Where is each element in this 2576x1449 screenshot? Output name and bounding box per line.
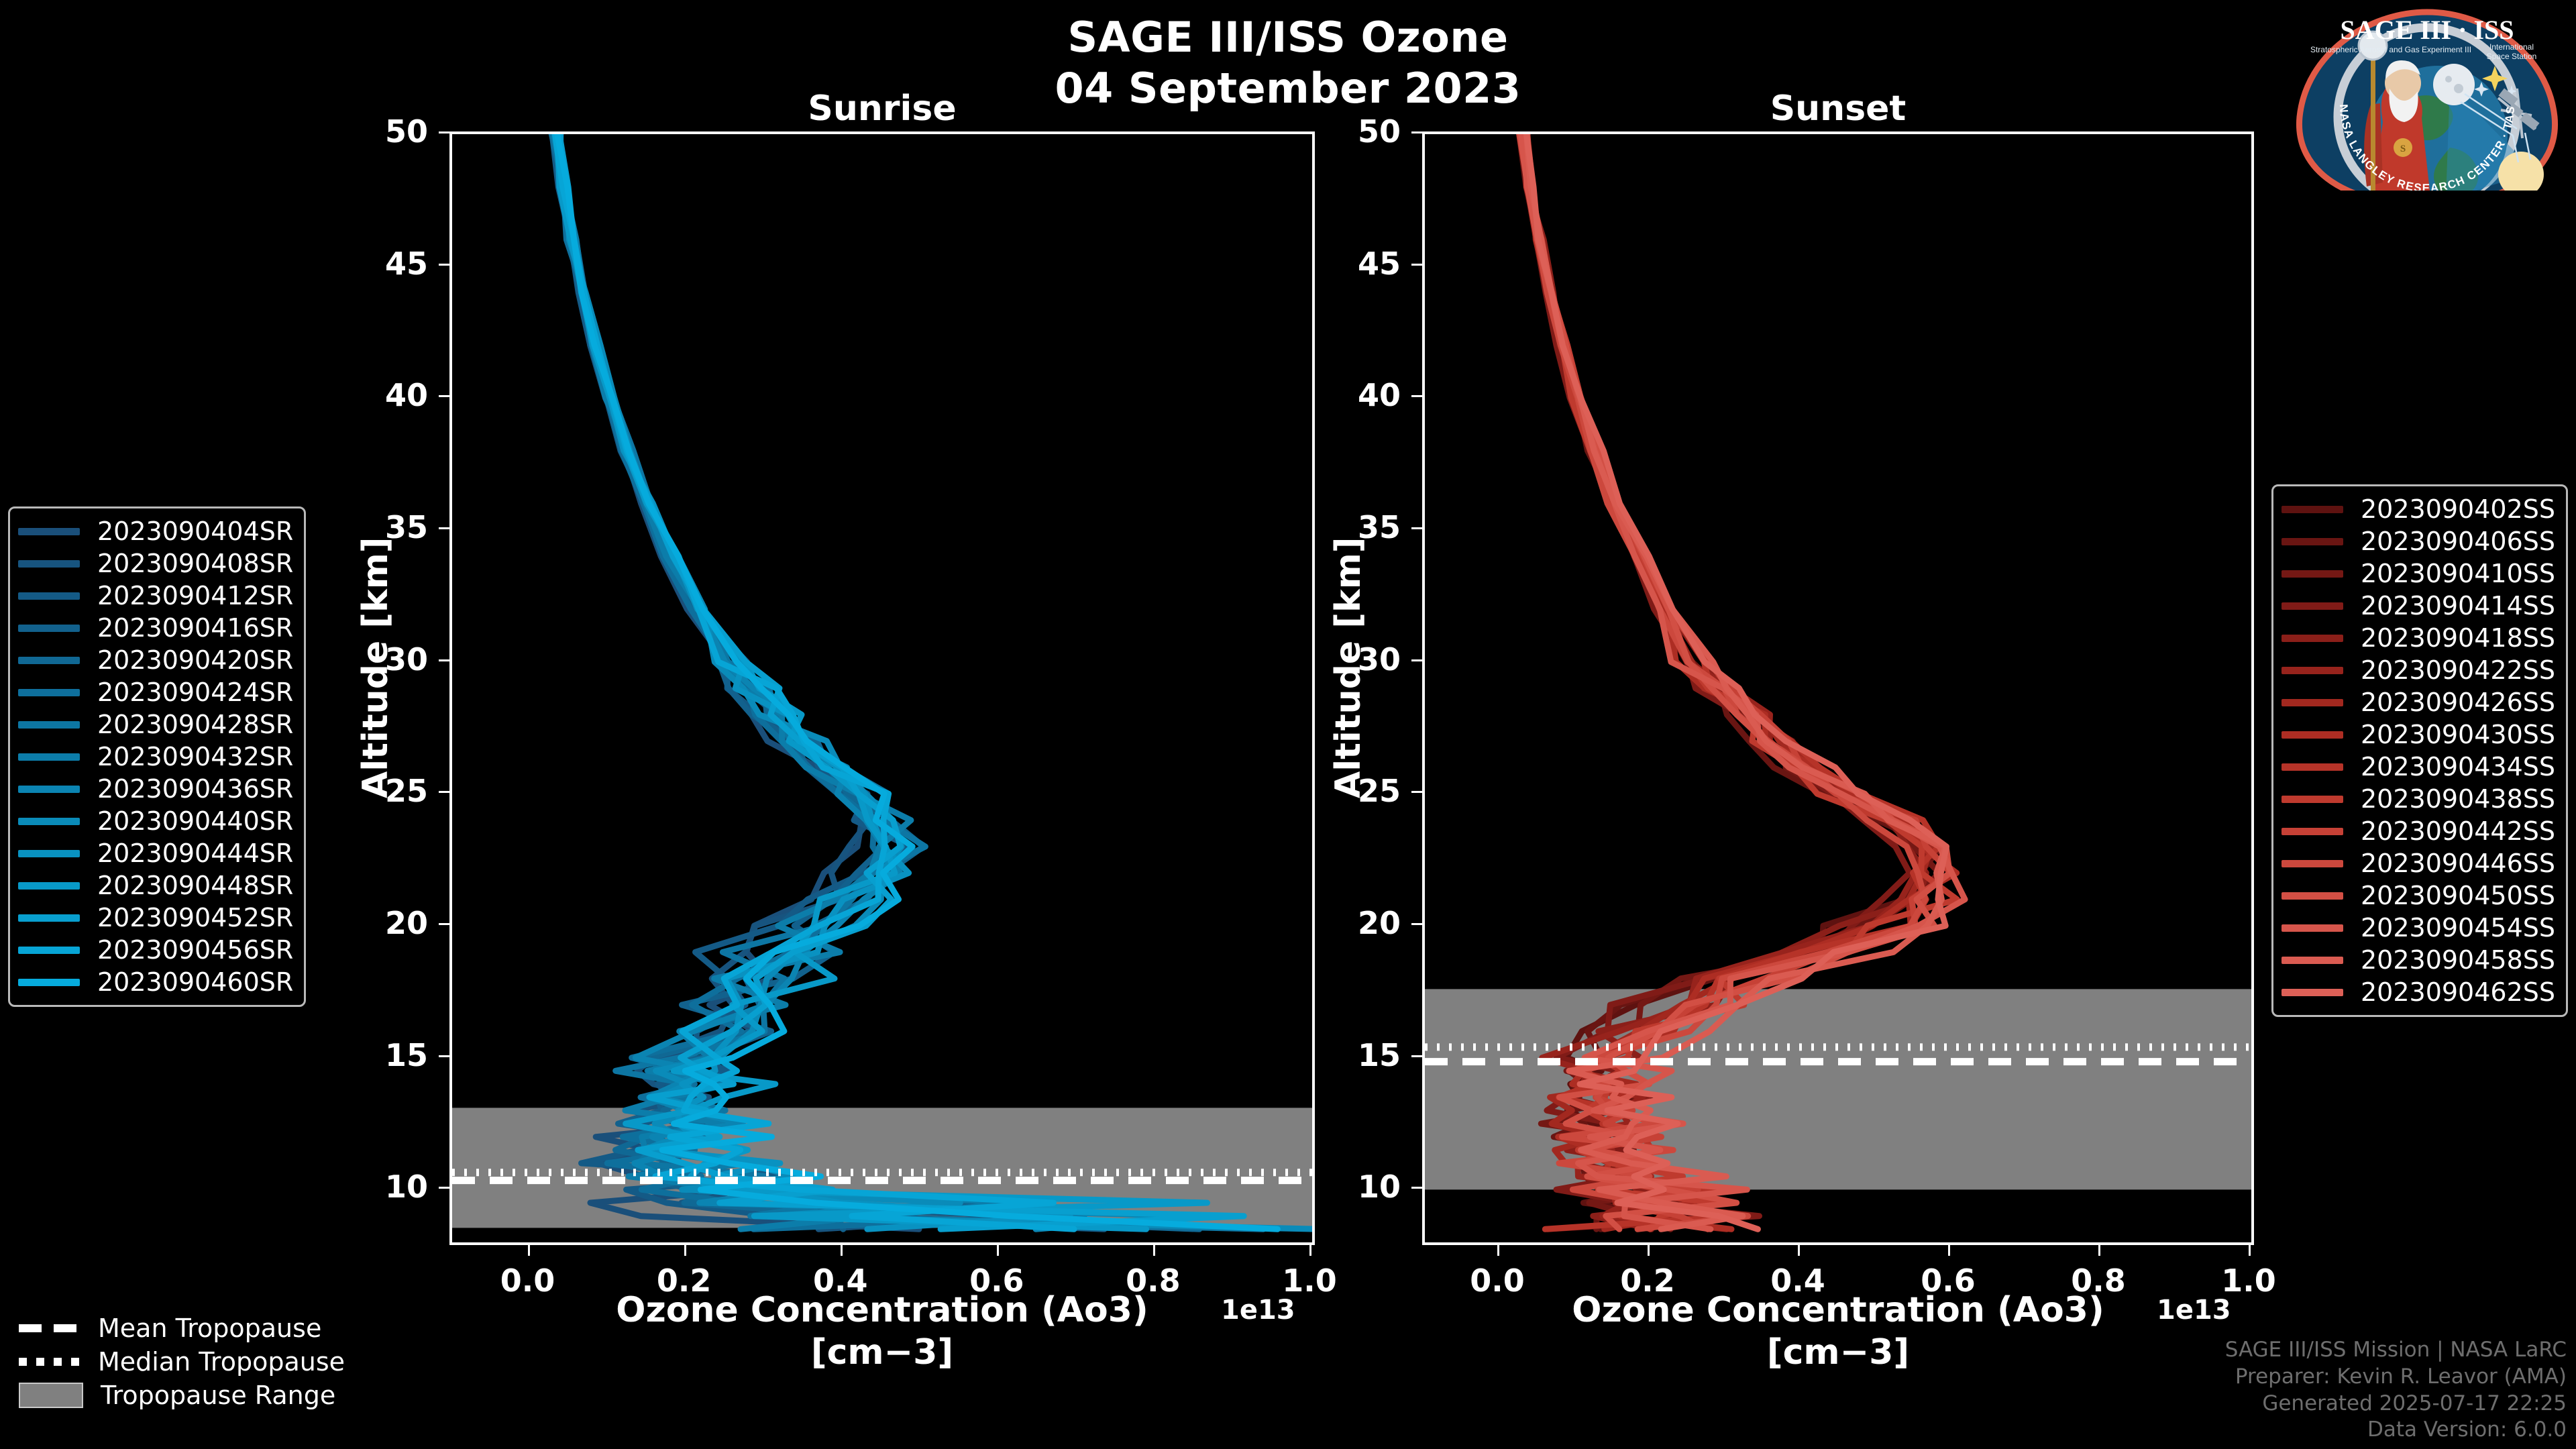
- svg-text:International: International: [2489, 42, 2534, 52]
- sunrise-y-axis-title: Altitude [km]: [356, 537, 396, 798]
- legend-item[interactable]: 2023090420SR: [18, 644, 293, 676]
- y-tick-label: 45: [1358, 246, 1401, 282]
- legend-item[interactable]: 2023090412SR: [18, 580, 293, 612]
- footer-line-preparer: Preparer: Kevin R. Leavor (AMA): [2225, 1364, 2567, 1391]
- legend-color-swatch: [2282, 635, 2343, 642]
- legend-color-swatch: [18, 786, 80, 793]
- sunrise-profile-lines: [452, 134, 1312, 1242]
- legend-item-label: 2023090438SS: [2361, 784, 2555, 814]
- sunset-plot-area[interactable]: [1422, 131, 2254, 1245]
- legend-item[interactable]: 2023090452SR: [18, 902, 293, 934]
- legend-item-label: 2023090454SS: [2361, 913, 2555, 943]
- sunrise-x-exponent: 1e13: [1221, 1295, 1295, 1326]
- legend-item-label: 2023090422SS: [2361, 655, 2555, 685]
- legend-item-label: 2023090460SR: [97, 967, 293, 997]
- y-tick: [1411, 1055, 1422, 1057]
- y-tick-label: 20: [385, 905, 428, 941]
- y-tick-label: 50: [385, 113, 428, 150]
- legend-color-swatch: [18, 721, 80, 729]
- y-tick-label: 15: [385, 1037, 428, 1073]
- legend-item-label: 2023090404SR: [97, 517, 293, 546]
- legend-item[interactable]: 2023090428SR: [18, 708, 293, 741]
- legend-color-swatch: [2282, 892, 2343, 900]
- y-tick: [1411, 923, 1422, 925]
- legend-color-swatch: [2282, 506, 2343, 513]
- sunrise-x-axis-title: Ozone Concentration (Ao3) [cm−3]: [449, 1289, 1315, 1375]
- mean-tropopause-dash-icon: [19, 1324, 80, 1332]
- legend-color-swatch: [18, 850, 80, 857]
- y-tick: [1411, 395, 1422, 397]
- legend-color-swatch: [2282, 731, 2343, 739]
- legend-item-label: 2023090430SS: [2361, 720, 2555, 749]
- logo-title: SAGE III · ISS: [2340, 15, 2514, 45]
- legend-item[interactable]: 2023090406SS: [2282, 525, 2555, 557]
- y-tick: [1411, 264, 1422, 266]
- sunset-x-exponent: 1e13: [2157, 1295, 2231, 1326]
- legend-item[interactable]: 2023090440SR: [18, 805, 293, 837]
- y-tick: [439, 131, 449, 133]
- sunrise-legend[interactable]: 2023090404SR2023090408SR2023090412SR2023…: [8, 506, 306, 1007]
- footer-attribution: SAGE III/ISS Mission | NASA LaRC Prepare…: [2225, 1337, 2567, 1444]
- legend-item[interactable]: 2023090416SR: [18, 612, 293, 644]
- ozone-profile-line: [553, 134, 1022, 1229]
- legend-item[interactable]: 2023090402SS: [2282, 493, 2555, 525]
- legend-item-label: 2023090450SS: [2361, 881, 2555, 910]
- legend-item[interactable]: 2023090432SR: [18, 741, 293, 773]
- x-tick: [1648, 1245, 1650, 1256]
- svg-text:Space Station: Space Station: [2487, 52, 2537, 61]
- legend-item-label: 2023090452SR: [97, 903, 293, 932]
- legend-color-swatch: [18, 882, 80, 890]
- legend-item-label: 2023090426SS: [2361, 688, 2555, 717]
- legend-color-swatch: [18, 689, 80, 696]
- legend-item-label: 2023090410SS: [2361, 559, 2555, 588]
- footer-line-mission: SAGE III/ISS Mission | NASA LaRC: [2225, 1337, 2567, 1364]
- legend-item[interactable]: 2023090460SR: [18, 966, 293, 998]
- legend-color-swatch: [2282, 957, 2343, 964]
- legend-item-label: 2023090458SS: [2361, 945, 2555, 975]
- legend-color-swatch: [18, 560, 80, 568]
- legend-color-swatch: [2282, 860, 2343, 867]
- tropopause-legend-label: Mean Tropopause: [98, 1313, 321, 1343]
- legend-item[interactable]: 2023090422SS: [2282, 654, 2555, 686]
- y-tick: [439, 527, 449, 529]
- legend-item-label: 2023090442SS: [2361, 816, 2555, 846]
- x-tick: [2098, 1245, 2100, 1256]
- legend-item[interactable]: 2023090446SS: [2282, 847, 2555, 879]
- y-tick-label: 50: [1358, 113, 1401, 150]
- legend-item[interactable]: 2023090408SR: [18, 547, 293, 580]
- legend-item[interactable]: 2023090442SS: [2282, 815, 2555, 847]
- subplot-title-sunrise: Sunrise: [449, 89, 1315, 129]
- x-tick: [684, 1245, 686, 1256]
- legend-item-label: 2023090436SR: [97, 774, 293, 804]
- y-tick: [1411, 659, 1422, 661]
- y-tick: [1411, 1187, 1422, 1189]
- title-line-1: SAGE III/ISS Ozone: [0, 12, 2576, 63]
- x-tick: [841, 1245, 843, 1256]
- legend-color-swatch: [2282, 989, 2343, 996]
- sunset-y-axis-title: Altitude [km]: [1328, 537, 1368, 798]
- y-tick-label: 40: [1358, 377, 1401, 413]
- legend-item[interactable]: 2023090404SR: [18, 515, 293, 547]
- legend-item[interactable]: 2023090424SR: [18, 676, 293, 708]
- legend-color-swatch: [2282, 602, 2343, 610]
- y-tick-label: 15: [1358, 1037, 1401, 1073]
- y-tick: [439, 264, 449, 266]
- legend-color-swatch: [2282, 570, 2343, 578]
- legend-item-label: 2023090444SR: [97, 839, 293, 868]
- legend-item-label: 2023090446SS: [2361, 849, 2555, 878]
- y-tick: [1411, 791, 1422, 793]
- legend-item[interactable]: 2023090438SS: [2282, 783, 2555, 815]
- x-tick: [1948, 1245, 1950, 1256]
- legend-item[interactable]: 2023090414SS: [2282, 590, 2555, 622]
- y-tick: [1411, 527, 1422, 529]
- legend-item-label: 2023090448SR: [97, 871, 293, 900]
- y-tick-label: 10: [385, 1169, 428, 1205]
- legend-color-swatch: [2282, 828, 2343, 835]
- legend-item[interactable]: 2023090430SS: [2282, 718, 2555, 751]
- legend-item-label: 2023090432SR: [97, 742, 293, 771]
- legend-color-swatch: [18, 979, 80, 986]
- sunset-legend[interactable]: 2023090402SS2023090406SS2023090410SS2023…: [2271, 484, 2568, 1017]
- y-tick: [439, 791, 449, 793]
- legend-item[interactable]: 2023090454SS: [2282, 912, 2555, 944]
- tropopause-range-band: [1425, 989, 2251, 1189]
- legend-item[interactable]: 2023090458SS: [2282, 944, 2555, 976]
- legend-item[interactable]: 2023090434SS: [2282, 751, 2555, 783]
- legend-item-label: 2023090412SR: [97, 581, 293, 610]
- x-tick: [528, 1245, 530, 1256]
- legend-item-label: 2023090424SR: [97, 678, 293, 707]
- footer-line-version: Data Version: 6.0.0: [2225, 1417, 2567, 1444]
- legend-color-swatch: [18, 625, 80, 632]
- tropopause-range-band-icon: [19, 1383, 83, 1408]
- legend-color-swatch: [2282, 699, 2343, 706]
- legend-item-label: 2023090406SS: [2361, 527, 2555, 556]
- y-tick: [439, 1187, 449, 1189]
- x-tick: [1309, 1245, 1311, 1256]
- legend-item-label: 2023090418SS: [2361, 623, 2555, 653]
- sage-iii-iss-mission-patch-logo: S SAGE III · ISS Stratospheric Aerosol a…: [2285, 4, 2569, 191]
- legend-item[interactable]: 2023090450SS: [2282, 879, 2555, 912]
- footer-line-generated: Generated 2025-07-17 22:25: [2225, 1391, 2567, 1417]
- x-tick: [2249, 1245, 2251, 1256]
- legend-color-swatch: [2282, 538, 2343, 545]
- legend-item[interactable]: 2023090444SR: [18, 837, 293, 869]
- sunrise-plot-area[interactable]: [449, 131, 1315, 1245]
- sunset-x-axis-title: Ozone Concentration (Ao3) [cm−3]: [1422, 1289, 2254, 1375]
- legend-color-swatch: [2282, 667, 2343, 674]
- legend-item[interactable]: 2023090418SS: [2282, 622, 2555, 654]
- tropopause-legend-item: Tropopause Range: [19, 1379, 345, 1412]
- tropopause-legend-label: Tropopause Range: [101, 1381, 335, 1410]
- legend-item-label: 2023090408SR: [97, 549, 293, 578]
- tropopause-legend-item: Mean Tropopause: [19, 1311, 345, 1345]
- legend-color-swatch: [18, 528, 80, 535]
- legend-item-label: 2023090402SS: [2361, 494, 2555, 524]
- legend-item[interactable]: 2023090436SR: [18, 773, 293, 805]
- legend-color-swatch: [18, 947, 80, 954]
- legend-item-label: 2023090456SR: [97, 935, 293, 965]
- legend-item-label: 2023090434SS: [2361, 752, 2555, 782]
- sunset-profile-lines: [1425, 134, 2251, 1242]
- ozone-profile-line: [555, 134, 1026, 1229]
- y-tick-label: 10: [1358, 1169, 1401, 1205]
- legend-color-swatch: [18, 753, 80, 761]
- legend-item-label: 2023090420SR: [97, 645, 293, 675]
- legend-color-swatch: [18, 592, 80, 600]
- median-tropopause-dot-icon: [19, 1358, 80, 1366]
- legend-item[interactable]: 2023090456SR: [18, 934, 293, 966]
- legend-color-swatch: [2282, 924, 2343, 932]
- legend-color-swatch: [18, 914, 80, 922]
- legend-item-label: 2023090416SR: [97, 613, 293, 643]
- subplot-title-sunset: Sunset: [1422, 89, 2254, 129]
- y-tick: [1411, 131, 1422, 133]
- tropopause-legend-item: Median Tropopause: [19, 1345, 345, 1379]
- legend-color-swatch: [2282, 796, 2343, 803]
- y-tick: [439, 1055, 449, 1057]
- legend-color-swatch: [2282, 763, 2343, 771]
- legend-item[interactable]: 2023090410SS: [2282, 557, 2555, 590]
- legend-item[interactable]: 2023090426SS: [2282, 686, 2555, 718]
- legend-color-swatch: [18, 818, 80, 825]
- y-tick: [439, 923, 449, 925]
- y-tick: [439, 659, 449, 661]
- tropopause-legend-label: Median Tropopause: [98, 1347, 345, 1377]
- x-tick: [1798, 1245, 1800, 1256]
- legend-color-swatch: [18, 657, 80, 664]
- y-tick-label: 40: [385, 377, 428, 413]
- x-tick: [997, 1245, 999, 1256]
- y-tick-label: 20: [1358, 905, 1401, 941]
- y-tick-label: 45: [385, 246, 428, 282]
- y-tick: [439, 395, 449, 397]
- legend-item-label: 2023090462SS: [2361, 977, 2555, 1007]
- legend-item-label: 2023090428SR: [97, 710, 293, 739]
- tropopause-legend: Mean TropopauseMedian TropopauseTropopau…: [19, 1311, 345, 1412]
- legend-item[interactable]: 2023090448SR: [18, 869, 293, 902]
- x-tick: [1497, 1245, 1499, 1256]
- x-tick: [1153, 1245, 1155, 1256]
- svg-text:S: S: [2400, 144, 2406, 154]
- legend-item-label: 2023090414SS: [2361, 591, 2555, 621]
- legend-item-label: 2023090440SR: [97, 806, 293, 836]
- legend-item[interactable]: 2023090462SS: [2282, 976, 2555, 1008]
- svg-text:Stratospheric Aerosol and Gas: Stratospheric Aerosol and Gas Experiment…: [2310, 45, 2471, 54]
